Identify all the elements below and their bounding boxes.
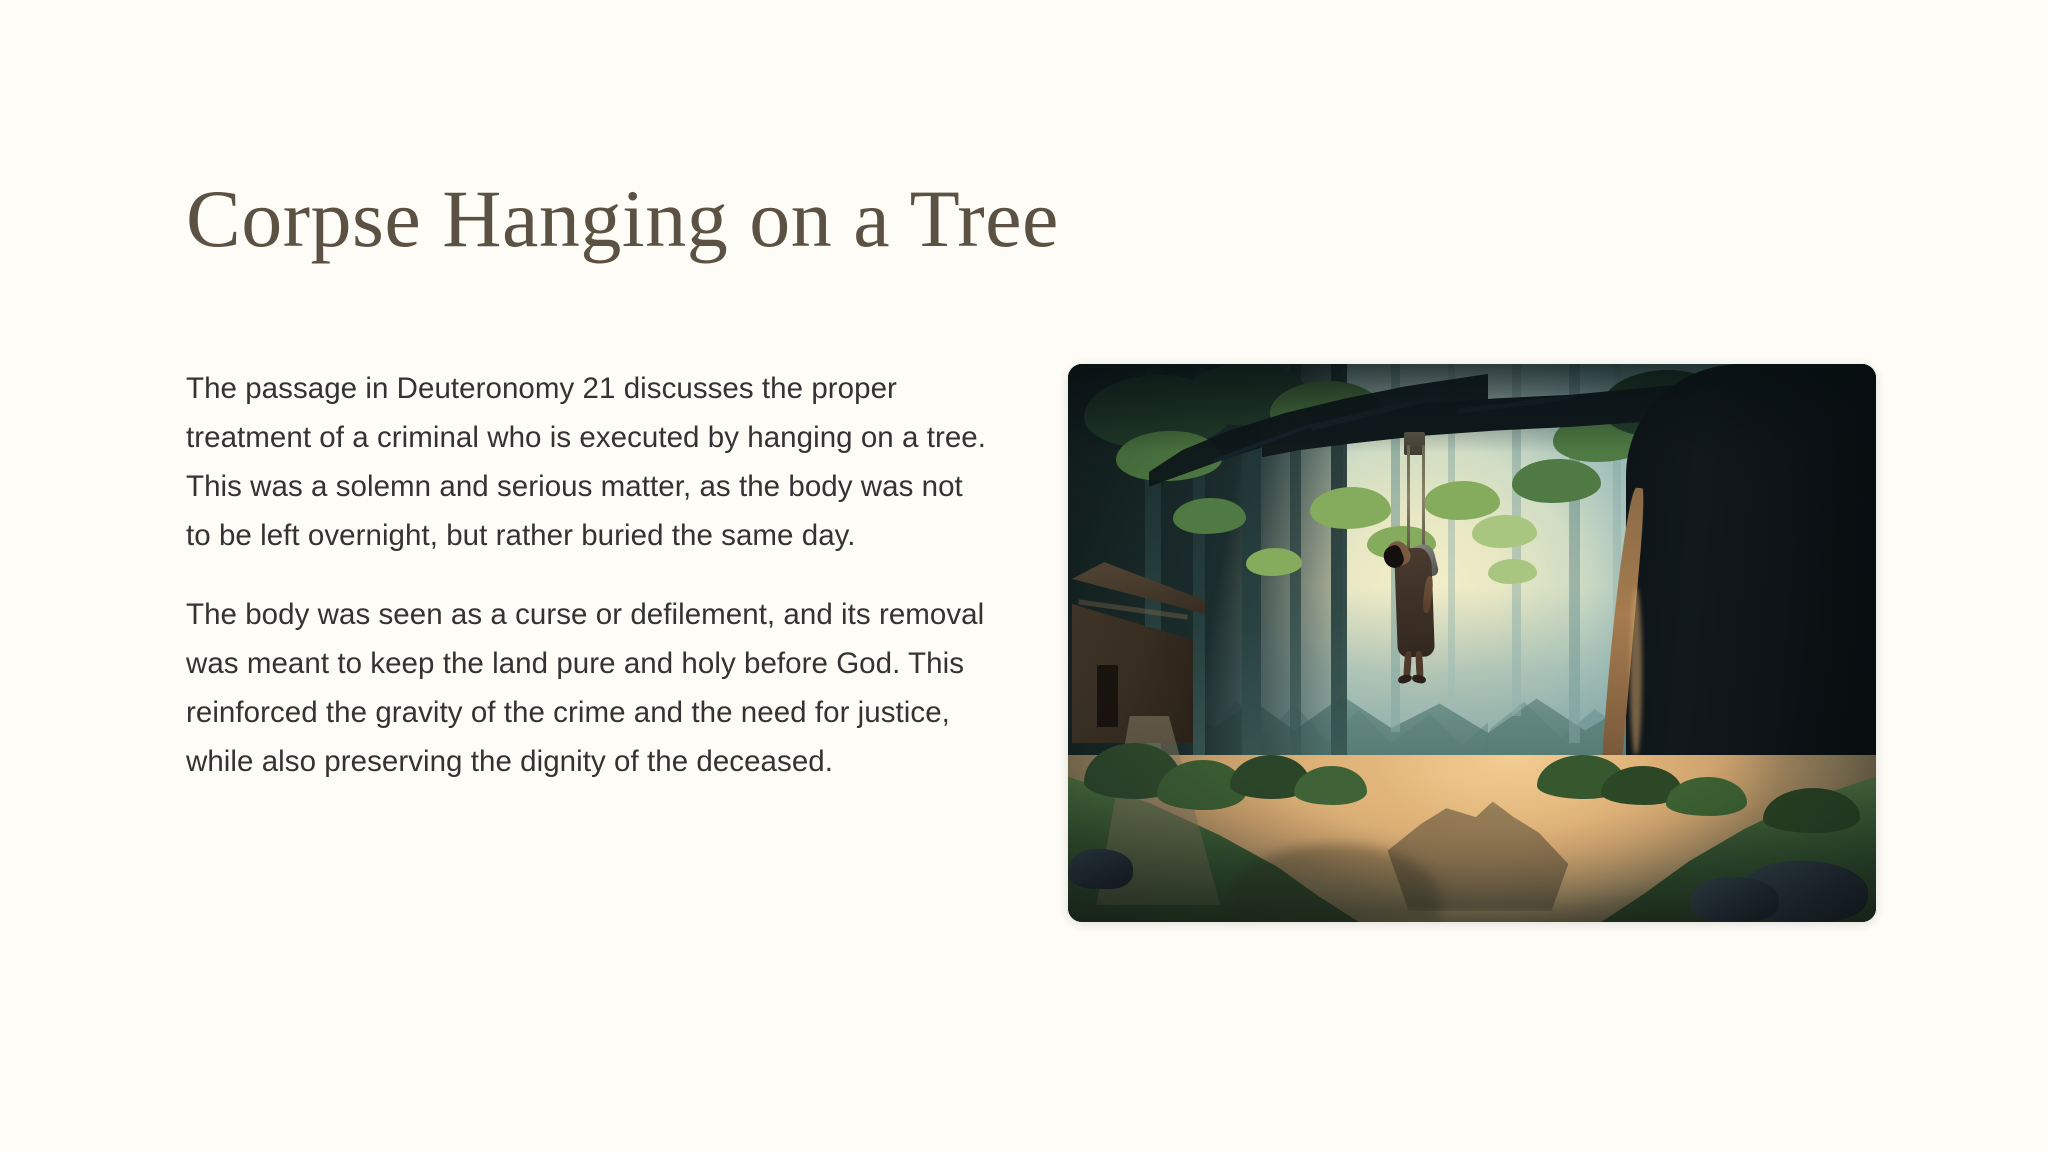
body-paragraph-1: The passage in Deuteronomy 21 discusses …: [186, 364, 992, 560]
foreground-rock: [1068, 849, 1133, 888]
oak-bark-highlight: [1630, 587, 1641, 754]
cabin-door: [1097, 665, 1118, 726]
canopy-leaf: [1246, 548, 1303, 576]
body-paragraph-2: The body was seen as a curse or defileme…: [186, 590, 992, 786]
content-row: The passage in Deuteronomy 21 discusses …: [186, 364, 1876, 922]
canopy-leaf: [1173, 498, 1246, 534]
foreground-rock: [1690, 877, 1779, 922]
figure-column: [1068, 364, 1876, 922]
page-title: Corpse Hanging on a Tree: [186, 178, 1059, 260]
forest-hanging-illustration: [1068, 364, 1876, 922]
rope-strand: [1407, 445, 1410, 551]
canopy-leaf: [1488, 559, 1536, 584]
rope-strand: [1422, 445, 1425, 551]
canopy-leaf: [1472, 515, 1537, 548]
canopy-leaf: [1424, 481, 1501, 520]
canopy-leaf: [1310, 487, 1391, 529]
text-column: The passage in Deuteronomy 21 discusses …: [186, 364, 992, 786]
canopy-leaf: [1512, 459, 1601, 504]
slide-root: Corpse Hanging on a Tree The passage in …: [0, 0, 2048, 1152]
